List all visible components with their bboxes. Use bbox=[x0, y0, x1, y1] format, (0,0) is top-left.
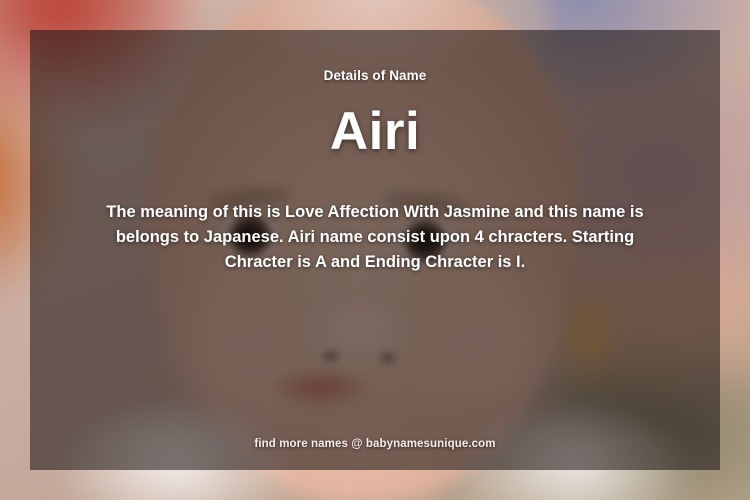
page-title: Airi bbox=[330, 105, 420, 158]
name-detail-card-screenshot: Details of Name Airi The meaning of this… bbox=[0, 0, 750, 500]
footer-attribution: find more names @ babynamesunique.com bbox=[30, 438, 720, 450]
name-detail-card: Details of Name Airi The meaning of this… bbox=[30, 30, 720, 470]
name-description: The meaning of this is Love Affection Wi… bbox=[97, 200, 653, 275]
card-content: Details of Name Airi The meaning of this… bbox=[30, 30, 720, 470]
card-subtitle: Details of Name bbox=[324, 68, 427, 83]
